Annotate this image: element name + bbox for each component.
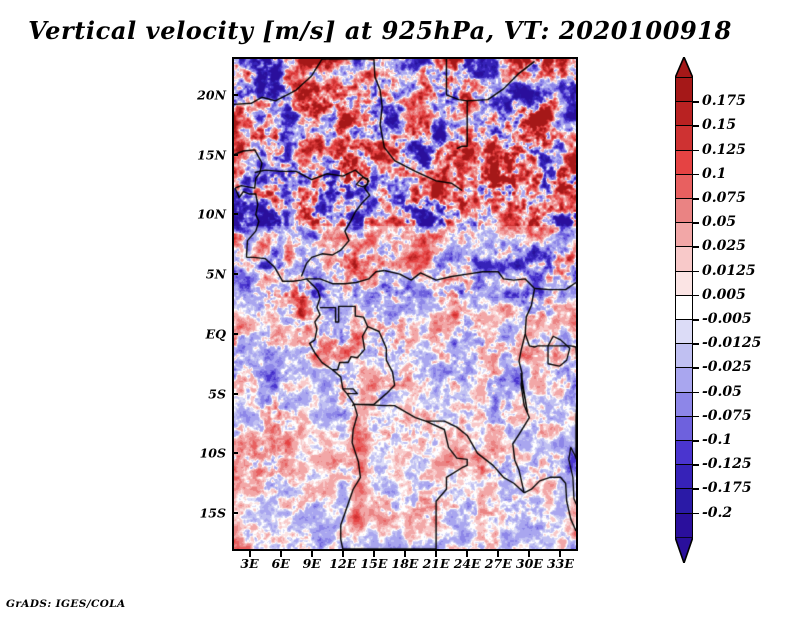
- colorbar-label: -0.175: [702, 480, 752, 496]
- colorbar-label: 0.05: [702, 214, 736, 230]
- colorbar-label: -0.2: [702, 505, 732, 521]
- colorbar-tick: [693, 174, 699, 176]
- longitude-tick: [373, 551, 375, 557]
- colorbar-label: -0.075: [702, 408, 752, 424]
- colorbar-band: [675, 246, 693, 272]
- longitude-label-6e: 6E: [272, 556, 290, 571]
- colorbar-cap-top-icon: [675, 57, 693, 77]
- latitude-label-15s: 15S: [0, 506, 236, 521]
- colorbar-label: 0.15: [702, 117, 736, 133]
- colorbar-band: [675, 295, 693, 321]
- vertical-velocity-field: [234, 59, 576, 549]
- longitude-tick: [342, 551, 344, 557]
- colorbar-tick: [693, 198, 699, 200]
- longitude-label-12e: 12E: [329, 556, 356, 571]
- colorbar-tick: [693, 101, 699, 103]
- colorbar-label: -0.05: [702, 384, 742, 400]
- longitude-label-9e: 9E: [303, 556, 321, 571]
- latitude-tick: [232, 333, 238, 335]
- colorbar-band: [675, 174, 693, 200]
- colorbar-cap-bottom-icon: [675, 537, 693, 563]
- longitude-tick: [559, 551, 561, 557]
- latitude-label-10s: 10S: [0, 446, 236, 461]
- colorbar-tick: [693, 416, 699, 418]
- colorbar-band: [675, 416, 693, 442]
- longitude-tick: [435, 551, 437, 557]
- latitude-label-5n: 5N: [0, 267, 236, 282]
- colorbar-band: [675, 464, 693, 490]
- longitude-label-18e: 18E: [392, 556, 419, 571]
- longitude-label-33e: 33E: [547, 556, 574, 571]
- colorbar-tick: [693, 150, 699, 152]
- colorbar-tick: [693, 271, 699, 273]
- colorbar-tick: [693, 125, 699, 127]
- colorbar-band: [675, 101, 693, 127]
- latitude-tick: [232, 154, 238, 156]
- colorbar-band: [675, 125, 693, 151]
- colorbar-band: [675, 488, 693, 514]
- latitude-tick: [232, 393, 238, 395]
- colorbar-label: 0.175: [702, 93, 746, 109]
- colorbar-tick: [693, 246, 699, 248]
- colorbar-label: -0.1: [702, 432, 732, 448]
- latitude-tick: [232, 94, 238, 96]
- page-title: Vertical velocity [m/s] at 925hPa, VT: 2…: [0, 16, 760, 45]
- colorbar-tick: [693, 295, 699, 297]
- latitude-tick: [232, 213, 238, 215]
- colorbar-band: [675, 198, 693, 224]
- colorbar-tick: [693, 488, 699, 490]
- latitude-tick: [232, 273, 238, 275]
- colorbar-tick: [693, 319, 699, 321]
- latitude-tick: [232, 512, 238, 514]
- colorbar-band: [675, 367, 693, 393]
- colorbar-tick: [693, 367, 699, 369]
- colorbar-band: [675, 343, 693, 369]
- colorbar-band: [675, 77, 693, 103]
- colorbar-band: [675, 222, 693, 248]
- colorbar-label: -0.025: [702, 359, 752, 375]
- colorbar-label: 0.025: [702, 238, 746, 254]
- colorbar-tick: [693, 392, 699, 394]
- colorbar-label: -0.125: [702, 456, 752, 472]
- longitude-label-21e: 21E: [423, 556, 450, 571]
- colorbar-tick: [693, 464, 699, 466]
- longitude-label-3e: 3E: [240, 556, 258, 571]
- colorbar-label: 0.0125: [702, 263, 756, 279]
- longitude-tick: [528, 551, 530, 557]
- colorbar-tick: [693, 343, 699, 345]
- longitude-label-15e: 15E: [360, 556, 387, 571]
- colorbar-tick: [693, 440, 699, 442]
- latitude-label-10n: 10N: [0, 207, 236, 222]
- colorbar-label: 0.1: [702, 166, 726, 182]
- colorbar-band: [675, 150, 693, 176]
- grads-credit: GrADS: IGES/COLA: [6, 598, 126, 610]
- longitude-tick: [466, 551, 468, 557]
- longitude-label-30e: 30E: [516, 556, 543, 571]
- colorbar-tick: [693, 513, 699, 515]
- longitude-tick: [311, 551, 313, 557]
- colorbar-label: 0.005: [702, 287, 746, 303]
- longitude-tick: [497, 551, 499, 557]
- latitude-label-eq: EQ: [0, 326, 236, 341]
- colorbar-band: [675, 513, 693, 539]
- map-plot-panel: [232, 57, 578, 551]
- longitude-tick: [249, 551, 251, 557]
- colorbar-band: [675, 271, 693, 297]
- longitude-tick: [280, 551, 282, 557]
- colorbar-label: 0.125: [702, 142, 746, 158]
- colorbar-label: -0.005: [702, 311, 752, 327]
- latitude-label-15n: 15N: [0, 147, 236, 162]
- colorbar-band: [675, 440, 693, 466]
- latitude-tick: [232, 452, 238, 454]
- colorbar-band: [675, 319, 693, 345]
- latitude-label-20n: 20N: [0, 87, 236, 102]
- colorbar-label: -0.0125: [702, 335, 761, 351]
- longitude-tick: [404, 551, 406, 557]
- latitude-label-5s: 5S: [0, 386, 236, 401]
- colorbar: 0.1750.150.1250.10.0750.050.0250.01250.0…: [672, 57, 792, 557]
- colorbar-label: 0.075: [702, 190, 746, 206]
- colorbar-band: [675, 392, 693, 418]
- longitude-label-27e: 27E: [485, 556, 512, 571]
- colorbar-tick: [693, 222, 699, 224]
- longitude-label-24e: 24E: [454, 556, 481, 571]
